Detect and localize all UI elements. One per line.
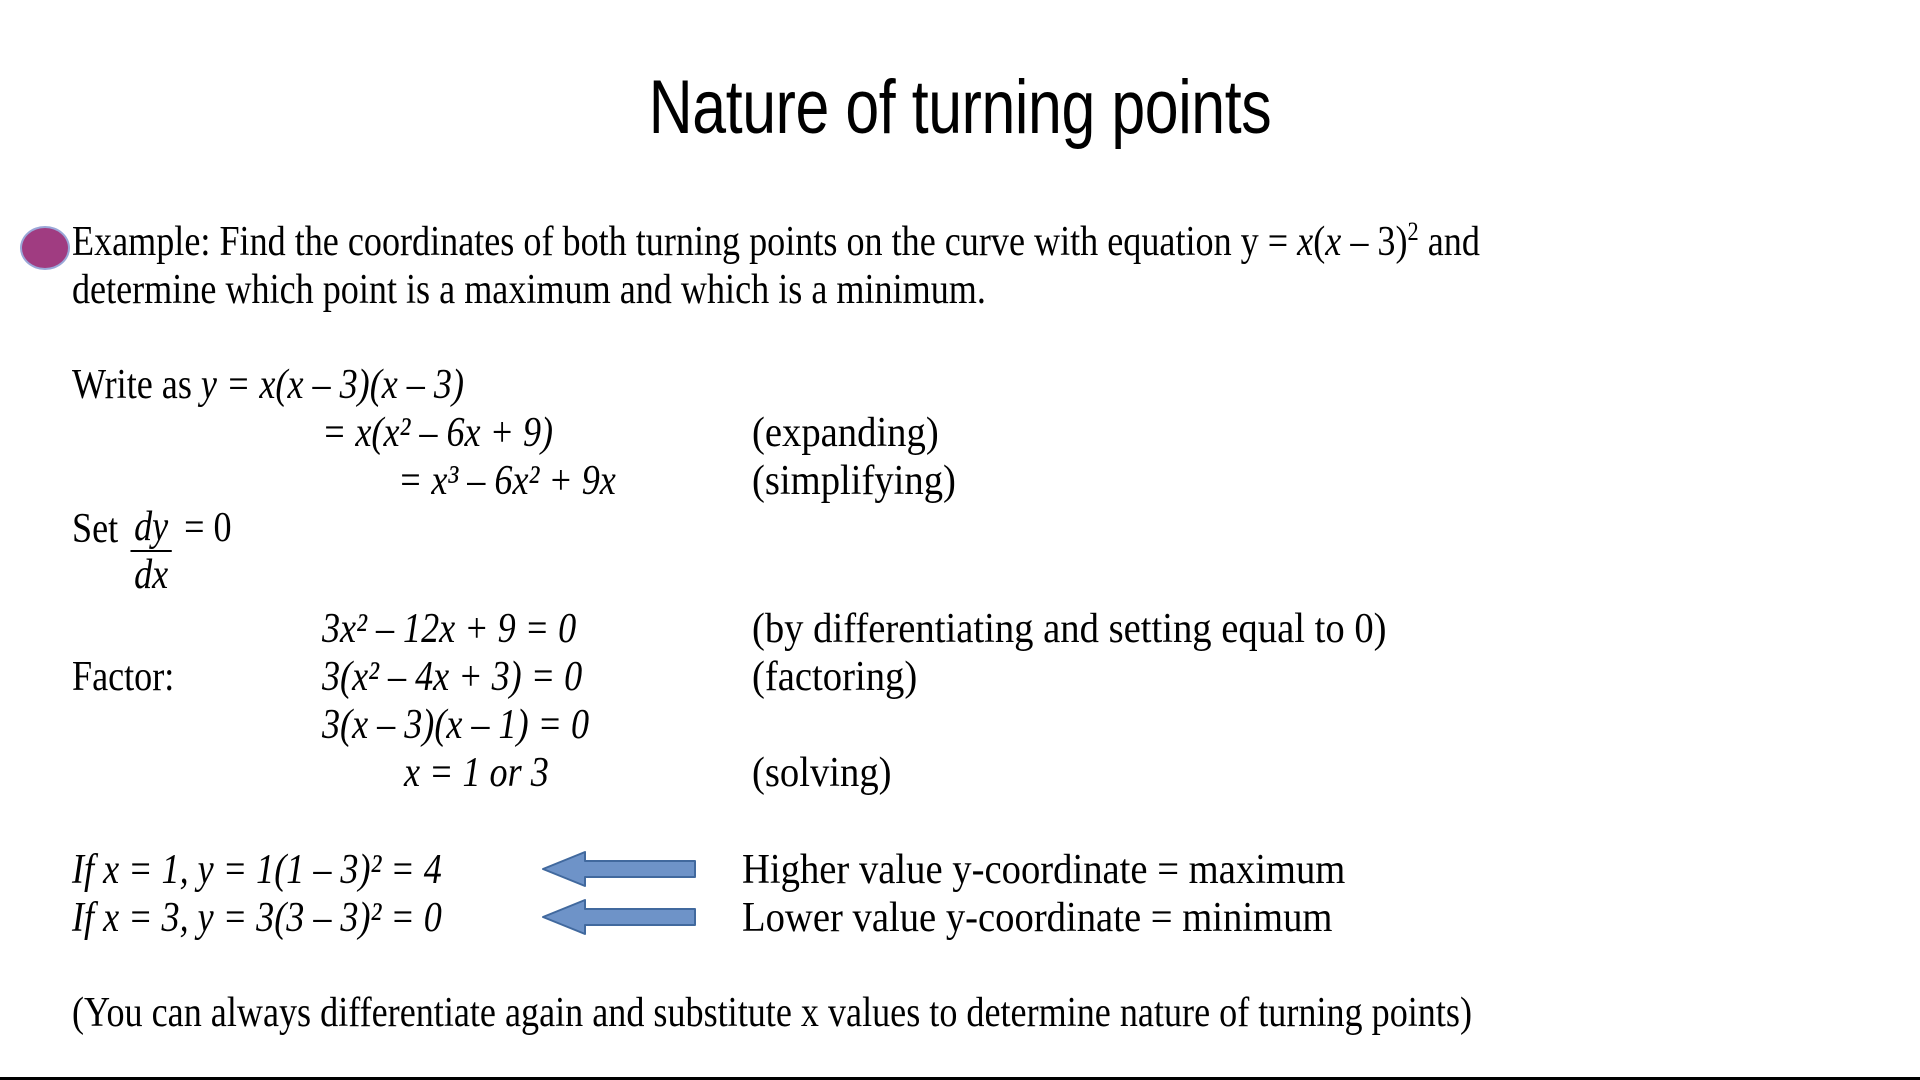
example-text-b: (: [1313, 219, 1325, 265]
simplify-note: (simplifying): [752, 457, 956, 505]
left-arrow-icon-2: [540, 896, 698, 938]
set-label: Set: [72, 505, 118, 553]
example-var-x1: x: [1297, 219, 1313, 265]
factor-label: Factor:: [72, 653, 174, 701]
example-line-2: determine which point is a maximum and w…: [72, 266, 986, 314]
write-as-label: Write as: [72, 362, 201, 408]
set-derivative-line: Set dy dx = 0: [72, 505, 232, 597]
simplify-expression: = x³ – 6x² + 9x: [398, 457, 616, 505]
example-text-c: – 3): [1341, 219, 1407, 265]
factor-expression-1: 3(x² – 4x + 3) = 0: [322, 653, 582, 701]
result-note-2: Lower value y-coordinate = minimum: [742, 894, 1332, 942]
solve-note: (solving): [752, 749, 892, 797]
example-var-x2: x: [1325, 219, 1341, 265]
example-text-d: and: [1419, 219, 1480, 265]
example-line-1: Example: Find the coordinates of both tu…: [72, 218, 1480, 266]
derivative-fraction: dy dx: [131, 505, 172, 597]
solve-expression: x = 1 or 3: [404, 749, 549, 797]
fraction-denominator: dx: [131, 552, 172, 597]
slide: Nature of turning points Example: Find t…: [0, 0, 1920, 1080]
factor-expression-2: 3(x – 3)(x – 1) = 0: [322, 701, 589, 749]
expand-note: (expanding): [752, 409, 939, 457]
result-note-1: Higher value y-coordinate = maximum: [742, 846, 1345, 894]
derivative-note: (by differentiating and setting equal to…: [752, 605, 1387, 653]
page-title: Nature of turning points: [192, 62, 1728, 154]
write-as-expression: y = x(x – 3)(x – 3): [201, 362, 464, 408]
bullet-marker-icon: [22, 228, 68, 268]
set-equals-zero: = 0: [184, 505, 231, 551]
footer-note: (You can always differentiate again and …: [72, 989, 1472, 1037]
example-text-a: Example: Find the coordinates of both tu…: [72, 219, 1297, 265]
factor-note: (factoring): [752, 653, 917, 701]
result-expression-2: If x = 3, y = 3(3 – 3)² = 0: [72, 894, 442, 942]
fraction-numerator: dy: [131, 505, 172, 552]
result-expression-1: If x = 1, y = 1(1 – 3)² = 4: [72, 846, 442, 894]
derivative-expression: 3x² – 12x + 9 = 0: [322, 605, 576, 653]
example-exponent: 2: [1408, 217, 1419, 246]
write-as-line: Write as y = x(x – 3)(x – 3): [72, 361, 464, 409]
expand-expression: = x(x² – 6x + 9): [322, 409, 553, 457]
left-arrow-icon-1: [540, 848, 698, 890]
